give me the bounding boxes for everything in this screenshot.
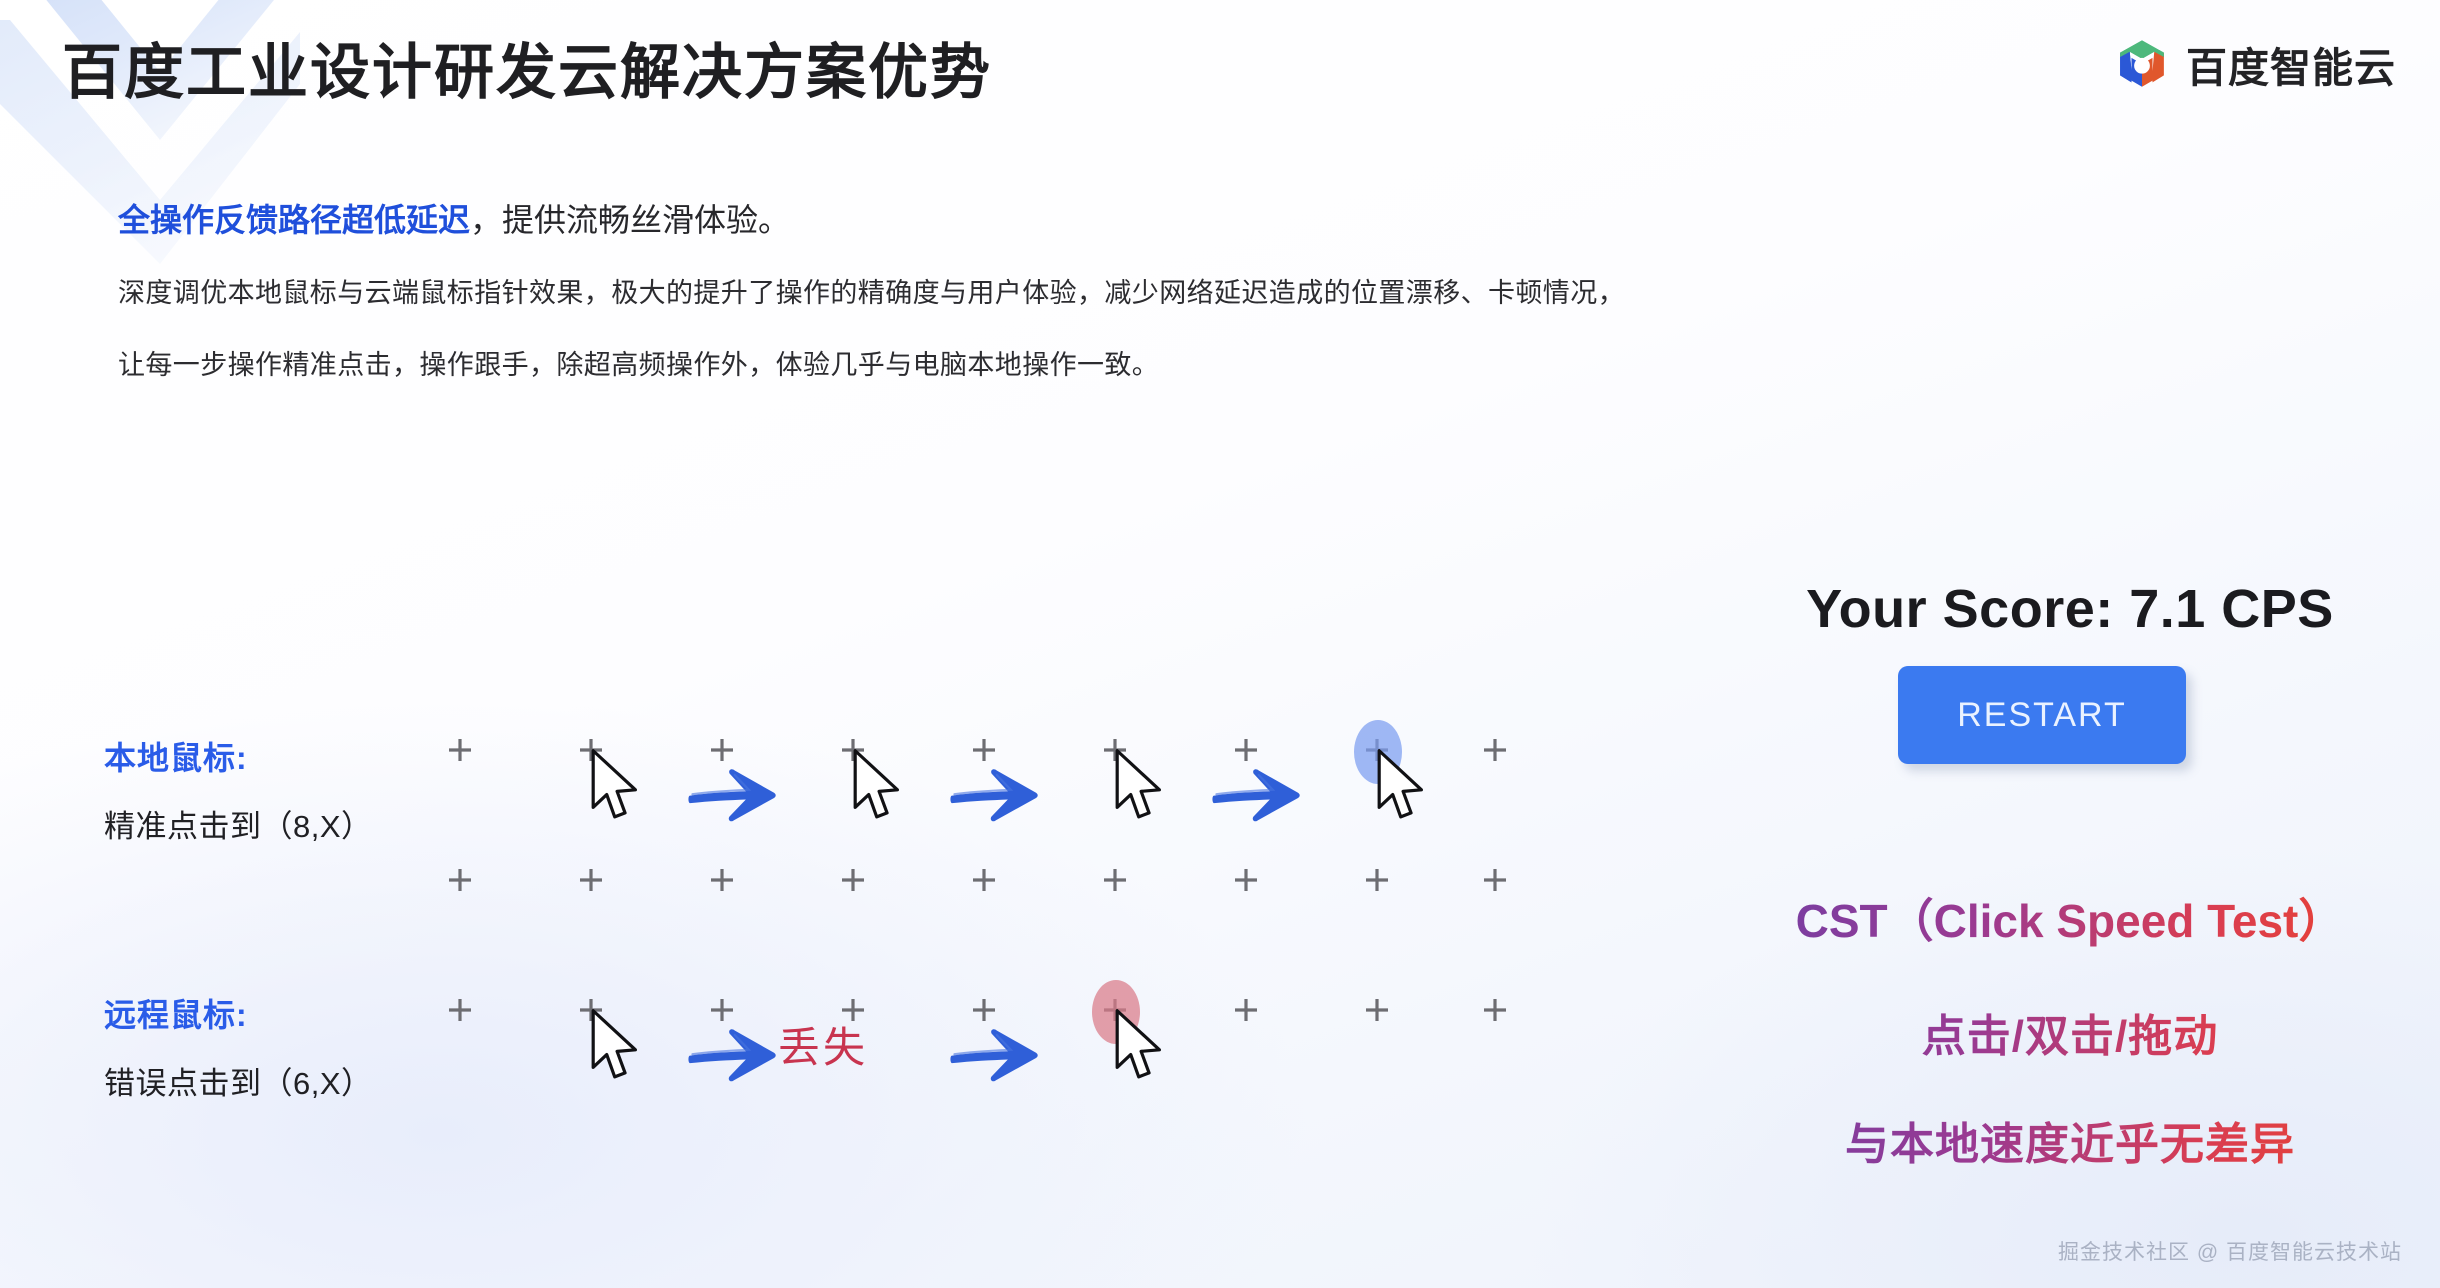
packet-lost-label: 丢失: [778, 1014, 868, 1075]
cursor-path-diagram: 丢失: [440, 640, 1510, 1140]
local-mouse-subtitle: 精准点击到（8,X）: [104, 801, 373, 846]
score-readout: Your Score: 7.1 CPS: [1740, 578, 2400, 640]
body-paragraph-line-1: 深度调优本地鼠标与云端鼠标指针效果，极大的提升了操作的精确度与用户体验，减少网络…: [118, 276, 1625, 311]
baidu-cloud-logo-icon: [2114, 36, 2170, 92]
restart-button[interactable]: RESTART: [1898, 666, 2186, 764]
watermark: 掘金技术社区 @ 百度智能云技术站: [2058, 1236, 2402, 1266]
remote-mouse-label-group: 远程鼠标: 错误点击到（6,X）: [104, 990, 373, 1103]
local-row-arrow-3: [1212, 769, 1299, 821]
lede-highlight: 全操作反馈路径超低延迟: [118, 202, 470, 238]
remote-mouse-title: 远程鼠标:: [104, 990, 373, 1036]
cst-conclusion-line: 与本地速度近乎无差异: [1700, 1108, 2440, 1172]
local-row-cursor-2: [855, 751, 897, 817]
lede-remainder: ，提供流畅丝滑体验。: [470, 202, 790, 238]
local-mouse-title: 本地鼠标:: [104, 733, 373, 779]
remote-row-arrow-1: [688, 1029, 775, 1081]
cst-title: CST（Click Speed Test）: [1700, 885, 2440, 951]
brand-logo: 百度智能云: [2114, 34, 2396, 94]
lede-paragraph: 全操作反馈路径超低延迟，提供流畅丝滑体验。: [118, 200, 790, 240]
remote-row-arrow-2: [950, 1029, 1037, 1081]
local-row-cursor-1: [593, 751, 635, 817]
remote-row-cursor-1: [593, 1011, 635, 1077]
local-row-arrow-2: [950, 769, 1037, 821]
local-row-cursor-3: [1117, 751, 1159, 817]
brand-name: 百度智能云: [2186, 34, 2396, 94]
slide-root: 百度工业设计研发云解决方案优势 百度智能云 全操作反馈路径超低延迟，提供流畅丝滑…: [0, 0, 2440, 1288]
body-paragraph-line-2: 让每一步操作精准点击，操作跟手，除超高频操作外，体验几乎与电脑本地操作一致。: [118, 348, 1159, 383]
remote-mouse-subtitle: 错误点击到（6,X）: [104, 1058, 373, 1103]
local-mouse-label-group: 本地鼠标: 精准点击到（8,X）: [104, 733, 373, 846]
local-row-arrow-1: [688, 769, 775, 821]
cst-actions-line: 点击/双击/拖动: [1700, 1000, 2440, 1064]
page-title: 百度工业设计研发云解决方案优势: [62, 24, 992, 111]
